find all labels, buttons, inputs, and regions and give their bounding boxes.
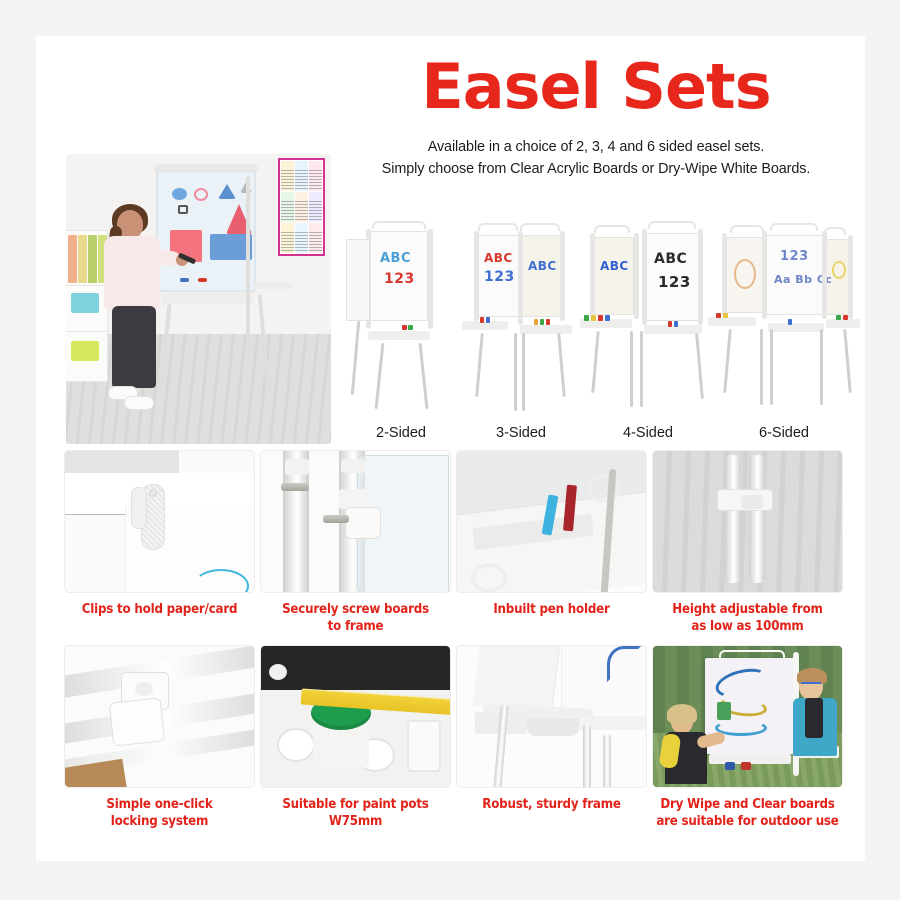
- page-subtitle: Available in a choice of 2, 3, 4 and 6 s…: [336, 137, 856, 181]
- variant-3-sided[interactable]: ABC 123 ABC 3-Sided: [464, 221, 578, 451]
- feature-image-outdoor-use: [652, 645, 843, 788]
- feature-caption-pen-holder: Inbuilt pen holder: [456, 602, 647, 619]
- feature-image-clips: [64, 450, 255, 593]
- variant-board-text-abc-blue: ABC: [528, 259, 557, 273]
- variant-board-text-123-blue: 123: [484, 269, 515, 285]
- feature-image-locking-system: [64, 645, 255, 788]
- infographic-page: Easel Sets Available in a choice of 2, 3…: [0, 0, 900, 900]
- feature-locking-system[interactable]: Simple one-click locking system: [64, 645, 255, 830]
- feature-caption-sturdy-frame: Robust, sturdy frame: [456, 797, 647, 814]
- feature-image-height-adjustable: [652, 450, 843, 593]
- variant-6-sided[interactable]: 123 Aa Bb Cc 6-Sided: [712, 221, 856, 451]
- feature-caption-outdoor-use: Dry Wipe and Clear boards are suitable f…: [652, 797, 843, 830]
- hero-multiplication-poster: [278, 158, 325, 256]
- variant-board-text-123-dark: 123: [658, 273, 691, 291]
- variant-board-text-abc-4: ABC: [600, 259, 629, 273]
- feature-height-adjustable[interactable]: Height adjustable from as low as 100mm: [652, 450, 843, 635]
- hero-photo: [66, 154, 331, 444]
- feature-caption-height-adjustable: Height adjustable from as low as 100mm: [652, 602, 843, 635]
- feature-sturdy-frame[interactable]: Robust, sturdy frame: [456, 645, 647, 814]
- feature-image-sturdy-frame: [456, 645, 647, 788]
- feature-pen-holder[interactable]: Inbuilt pen holder: [456, 450, 647, 619]
- variant-label-6-sided: 6-Sided: [712, 425, 856, 441]
- feature-outdoor-use[interactable]: Dry Wipe and Clear boards are suitable f…: [652, 645, 843, 830]
- variant-board-text-abc-red: ABC: [484, 251, 513, 265]
- hero-shelf-unit: [66, 230, 108, 382]
- page-title: Easel Sets: [336, 54, 856, 119]
- feature-image-pen-holder: [456, 450, 647, 593]
- feature-caption-screw-boards: Securely screw boards to frame: [260, 602, 451, 635]
- header: Easel Sets Available in a choice of 2, 3…: [336, 54, 856, 181]
- feature-image-screw-boards: [260, 450, 451, 593]
- variant-board-text-123-6: 123: [780, 249, 809, 264]
- feature-screw-boards[interactable]: Securely screw boards to frame: [260, 450, 451, 635]
- feature-image-paint-pots: [260, 645, 451, 788]
- variant-label-2-sided: 2-Sided: [344, 425, 458, 441]
- variant-board-text-abc: ABC: [380, 251, 411, 266]
- variant-2-sided[interactable]: ABC 123 2-Sided: [344, 221, 458, 451]
- feature-clips[interactable]: Clips to hold paper/card: [64, 450, 255, 619]
- variant-board-text-123: 123: [384, 271, 415, 287]
- variant-board-text-abc-dark: ABC: [654, 251, 687, 267]
- variant-label-3-sided: 3-Sided: [464, 425, 578, 441]
- feature-caption-locking-system: Simple one-click locking system: [64, 797, 255, 830]
- variant-4-sided[interactable]: ABC ABC 123 4-Sided: [584, 221, 712, 451]
- feature-caption-clips: Clips to hold paper/card: [64, 602, 255, 619]
- variant-label-4-sided: 4-Sided: [584, 425, 712, 441]
- content-card: Easel Sets Available in a choice of 2, 3…: [36, 36, 865, 861]
- feature-paint-pots[interactable]: Suitable for paint pots W75mm: [260, 645, 451, 830]
- feature-caption-paint-pots: Suitable for paint pots W75mm: [260, 797, 451, 830]
